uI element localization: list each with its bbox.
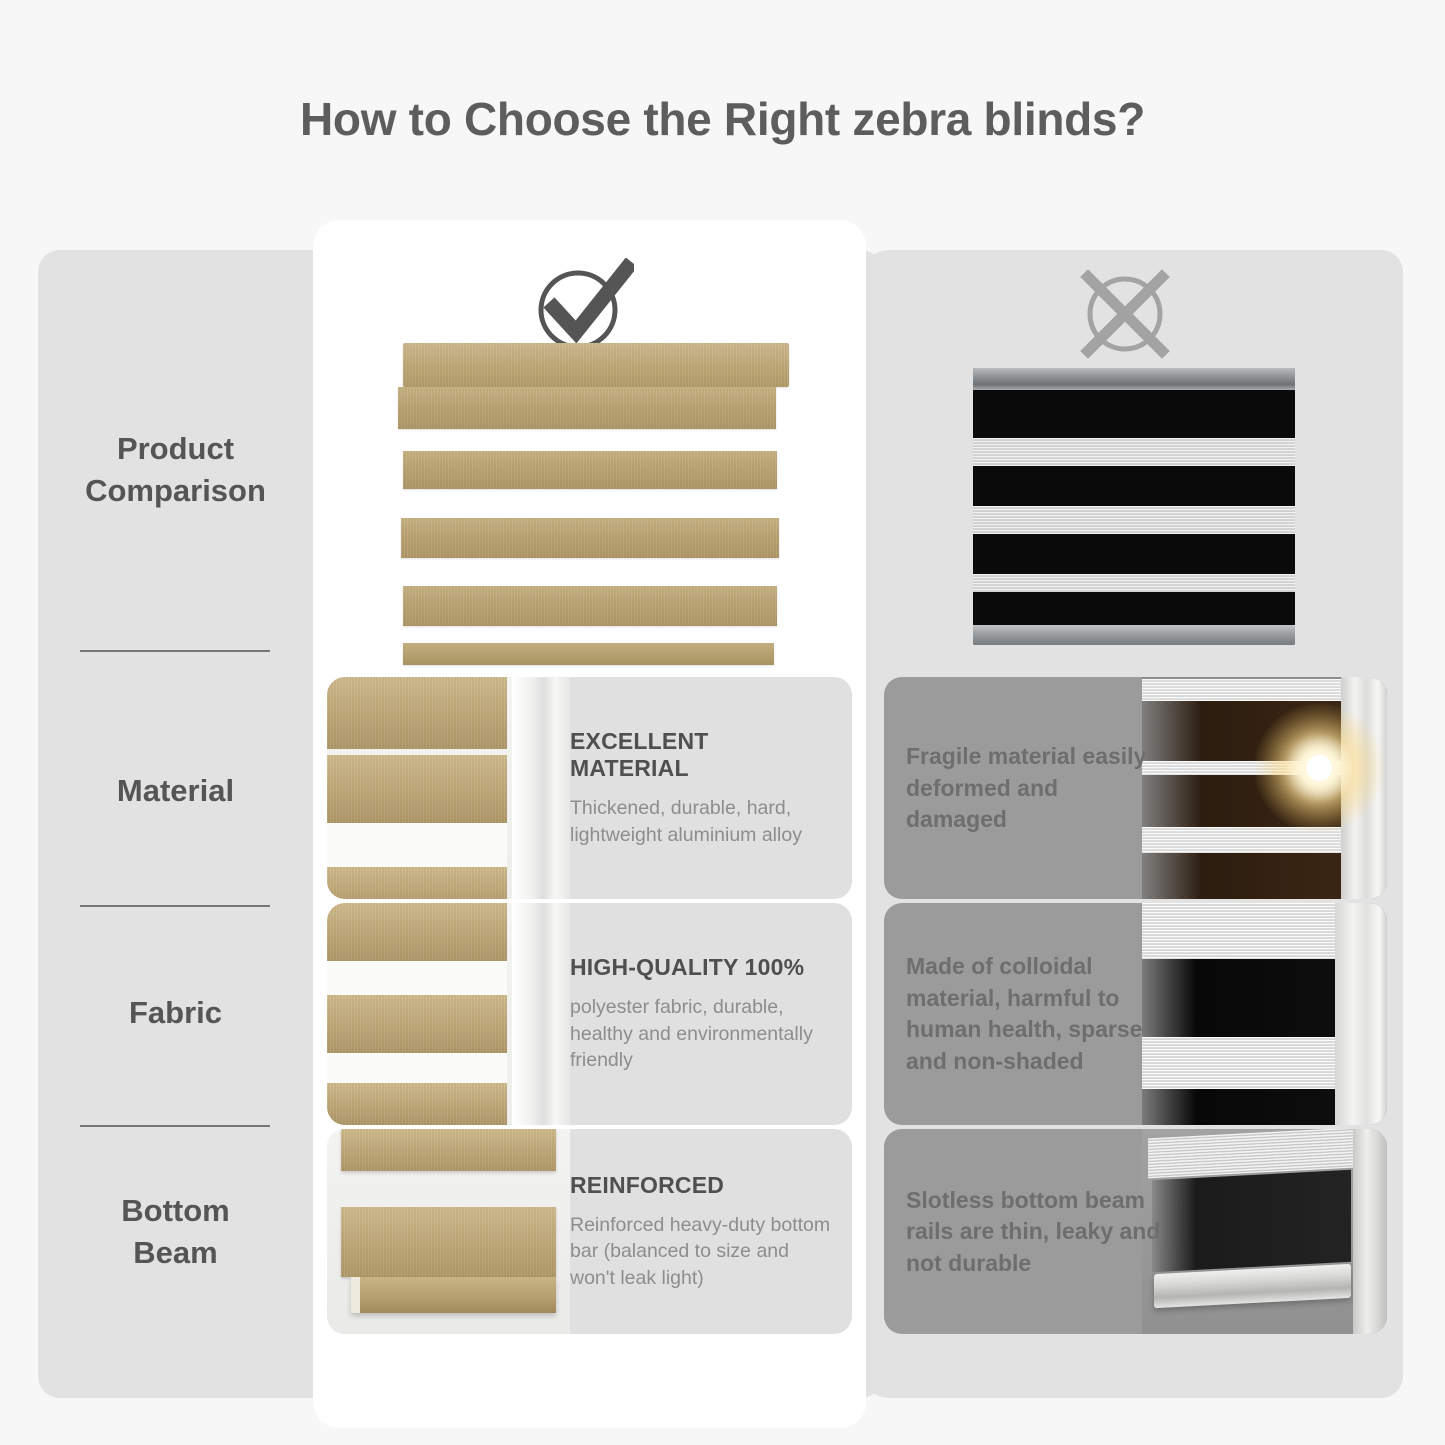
page-title: How to Choose the Right zebra blinds? [0,92,1445,146]
sun-core-icon [1306,755,1332,781]
photo-gap [327,1053,507,1083]
recommended-card-material: EXCELLENT MATERIAL Thickened, durable, h… [327,677,852,899]
window-frame [512,677,570,899]
photo-slat [341,1207,556,1277]
cross-circle-icon [1076,268,1174,360]
fabric-photo-good [327,903,570,1125]
blind-slat [403,451,777,489]
window-frame [512,903,570,1125]
photo-slat [327,1083,507,1125]
fabric-text-bad: Made of colloidal material, harmful to h… [906,951,1164,1077]
blind-top-slat [398,387,776,429]
row-label-column: Product Comparison Material Fabric Botto… [38,250,313,1398]
blind-sheer-band [973,438,1295,466]
row-divider-1 [80,650,270,652]
recommended-card-fabric: HIGH-QUALITY 100% polyester fabric, dura… [327,903,852,1125]
row-label-bottom-beam: Bottom Beam [38,1190,313,1274]
reinforced-bottom-bar [351,1277,556,1313]
photo-sheer [1142,903,1335,959]
row-label-fabric: Fabric [38,992,313,1034]
material-text-good: EXCELLENT MATERIAL Thickened, durable, h… [570,728,832,848]
photo-dark-band [1142,853,1341,899]
photo-slat [327,755,507,823]
window-frame [1353,1129,1387,1334]
rejected-card-fabric: Made of colloidal material, harmful to h… [884,903,1387,1125]
photo-slat [327,995,507,1053]
window-frame [1335,903,1387,1125]
material-text-bad: Fragile material easily deformed and dam… [906,741,1164,836]
blind-black-band [973,390,1295,438]
row-label-material: Material [38,770,313,812]
material-photo-bad [1142,677,1387,899]
blind-black-band [973,534,1295,574]
blind-slat [403,586,777,626]
blind-black-band [973,592,1295,625]
row-divider-3 [80,1125,270,1127]
card-title: HIGH-QUALITY 100% [570,954,832,981]
card-title: EXCELLENT MATERIAL [570,728,832,782]
blind-black-band [973,466,1295,506]
blind-slat [401,518,779,558]
row-label-product-comparison: Product Comparison [38,428,313,512]
photo-sheer [1142,679,1341,701]
fabric-text-good: HIGH-QUALITY 100% polyester fabric, dura… [570,954,832,1074]
fabric-photo-bad [1142,903,1387,1125]
card-title: REINFORCED [570,1172,832,1199]
bottom-beam-text-good: REINFORCED Reinforced heavy-duty bottom … [570,1172,832,1292]
photo-slat [327,867,507,899]
card-body: Thickened, durable, hard, lightweight al… [570,795,832,848]
rejected-hero-image [973,368,1295,645]
photo-dark-band [1142,1089,1335,1125]
photo-slat [327,677,507,749]
bottom-beam-text-bad: Slotless bottom beam rails are thin, lea… [906,1184,1164,1279]
bottom-beam-photo-good [327,1129,570,1334]
photo-gap [327,823,507,867]
rejected-card-material: Fragile material easily deformed and dam… [884,677,1387,899]
blind-bottom-rail [973,625,1295,645]
row-divider-2 [80,905,270,907]
blind-sheer-band [973,506,1295,534]
card-body: Reinforced heavy-duty bottom bar (balanc… [570,1212,832,1292]
card-body: polyester fabric, durable, healthy and e… [570,994,832,1074]
photo-sheer [1142,1037,1335,1089]
photo-slat [327,903,507,961]
bottom-beam-photo-bad [1142,1129,1387,1334]
blind-sheer-band [973,574,1295,592]
photo-slat [341,1129,556,1171]
photo-gap [327,961,507,995]
material-photo-good [327,677,570,899]
recommended-hero-image [398,343,788,663]
blind-top-rail [973,368,1295,390]
photo-dark-band [1152,1170,1351,1272]
recommended-card-bottom-beam: REINFORCED Reinforced heavy-duty bottom … [327,1129,852,1334]
photo-dark-band [1142,959,1335,1037]
blind-bottom-bar [403,643,774,665]
check-circle-icon [534,258,634,353]
blind-headrail [403,343,789,387]
rejected-card-bottom-beam: Slotless bottom beam rails are thin, lea… [884,1129,1387,1334]
